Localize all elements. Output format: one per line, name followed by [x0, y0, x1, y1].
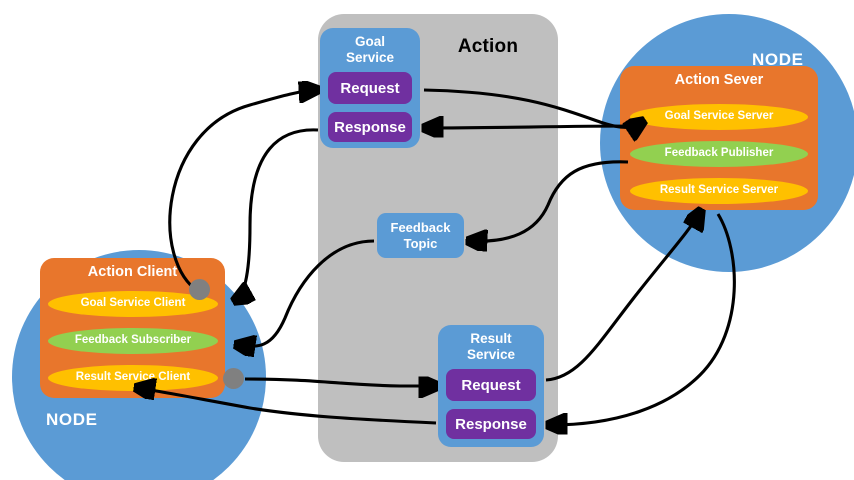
result-service-request[interactable]: Request	[446, 369, 536, 401]
pill-goal-service-server[interactable]: Goal Service Server	[630, 104, 808, 130]
diagram-canvas: Action Action Sever Goal Service Server …	[0, 0, 854, 480]
goal-service-response[interactable]: Response	[328, 112, 412, 142]
pill-feedback-publisher-label: Feedback Publisher	[665, 148, 774, 160]
result-service-title: Result Service	[438, 331, 544, 363]
client-node-label: NODE	[46, 410, 98, 430]
result-service-title-line2: Service	[467, 347, 515, 362]
pill-goal-service-server-label: Goal Service Server	[665, 111, 774, 123]
connector-dot-goal-client	[189, 279, 210, 300]
pill-feedback-publisher[interactable]: Feedback Publisher	[630, 141, 808, 167]
pill-feedback-subscriber-label: Feedback Subscriber	[75, 335, 191, 347]
pill-feedback-subscriber[interactable]: Feedback Subscriber	[48, 328, 218, 354]
arrow-goal-response-to-client	[236, 130, 318, 300]
feedback-topic-line2: Topic	[404, 236, 438, 251]
action-client-title: Action Client	[40, 264, 225, 280]
goal-service-title: Goal Service	[320, 34, 420, 66]
pill-result-service-server-label: Result Service Server	[660, 185, 778, 197]
goal-service-request[interactable]: Request	[328, 72, 412, 104]
connector-dot-result-client	[223, 368, 244, 389]
goal-service-title-line1: Goal	[355, 34, 385, 49]
pill-goal-service-client-label: Goal Service Client	[81, 298, 186, 310]
pill-result-service-client[interactable]: Result Service Client	[48, 365, 218, 391]
server-node-label: NODE	[752, 50, 804, 70]
result-service-box: Result Service Request Response	[438, 325, 544, 447]
result-service-title-line1: Result	[470, 331, 511, 346]
pill-result-service-server[interactable]: Result Service Server	[630, 178, 808, 204]
result-service-response[interactable]: Response	[446, 409, 536, 439]
feedback-topic-line1: Feedback	[391, 220, 451, 235]
pill-result-service-client-label: Result Service Client	[76, 372, 190, 384]
goal-service-title-line2: Service	[346, 50, 394, 65]
action-title: Action	[440, 36, 536, 58]
feedback-topic-box[interactable]: Feedback Topic	[377, 213, 464, 258]
feedback-topic-label: Feedback Topic	[391, 220, 451, 251]
action-server-panel: Action Sever Goal Service Server Feedbac…	[620, 66, 818, 210]
action-server-title: Action Sever	[620, 72, 818, 88]
goal-service-box: Goal Service Request Response	[320, 28, 420, 148]
